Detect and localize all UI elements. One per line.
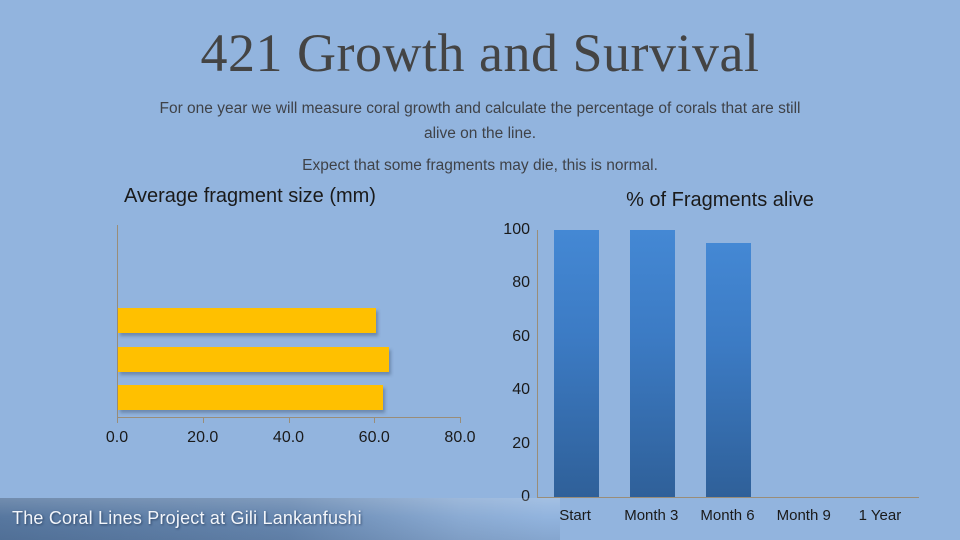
- left-chart-bar-row: [118, 263, 461, 301]
- right-chart-value-axis: 020406080100: [474, 230, 530, 497]
- right-chart-tick-label: 40: [512, 381, 530, 399]
- right-chart-tick-label: 20: [512, 435, 530, 453]
- chart-percent-fragments-alive: % of Fragments alive 020406080100 StartM…: [460, 185, 960, 540]
- left-chart-bar: [118, 308, 376, 333]
- left-chart-value-axis: 0.020.040.060.080.0: [117, 417, 460, 418]
- left-chart-tick-label: 60.0: [359, 429, 390, 447]
- right-chart-bar-slot: [843, 230, 919, 497]
- left-chart-tick-label: 20.0: [187, 429, 218, 447]
- right-chart-bar: [706, 243, 751, 497]
- right-chart-bar-slot: [538, 230, 614, 497]
- left-chart-bar-row: [118, 225, 461, 263]
- slide: 421 Growth and Survival For one year we …: [0, 0, 960, 540]
- subtitle-line-1: For one year we will measure coral growt…: [160, 100, 801, 142]
- right-chart-tick-label: 100: [503, 221, 530, 239]
- left-chart-bar: [118, 385, 383, 410]
- right-chart-bar-slot: [767, 230, 843, 497]
- right-chart-bar-slot: [690, 230, 766, 497]
- chart-average-fragment-size: Average fragment size (mm) StartMonth 3M…: [0, 185, 500, 475]
- footer-label: The Coral Lines Project at Gili Lankanfu…: [12, 508, 362, 529]
- left-chart-tick: [374, 417, 375, 423]
- right-chart-bar-slot: [614, 230, 690, 497]
- right-chart-tick-label: 60: [512, 328, 530, 346]
- left-chart-plot-area: [117, 225, 461, 417]
- right-chart-plot-area: [537, 230, 919, 498]
- right-chart-bar: [630, 230, 675, 497]
- left-chart-tick: [289, 417, 290, 423]
- left-chart-tick-label: 40.0: [273, 429, 304, 447]
- chart-title-right: % of Fragments alive: [520, 189, 920, 212]
- left-chart-tick: [203, 417, 204, 423]
- right-chart-tick-label: 80: [512, 274, 530, 292]
- left-chart-bars: [118, 225, 461, 417]
- left-chart-bar-row: [118, 379, 461, 417]
- chart-title-left: Average fragment size (mm): [0, 185, 500, 208]
- page-title: 421 Growth and Survival: [0, 22, 960, 84]
- left-chart-bar: [118, 347, 389, 372]
- subtitle: For one year we will measure coral growt…: [150, 96, 810, 178]
- left-chart-tick: [117, 417, 118, 423]
- left-chart-tick-label: 0.0: [106, 429, 128, 447]
- subtitle-line-2: Expect that some fragments may die, this…: [150, 153, 810, 178]
- left-chart-bar-row: [118, 302, 461, 340]
- right-chart-bar: [554, 230, 599, 497]
- left-chart-bar-row: [118, 340, 461, 378]
